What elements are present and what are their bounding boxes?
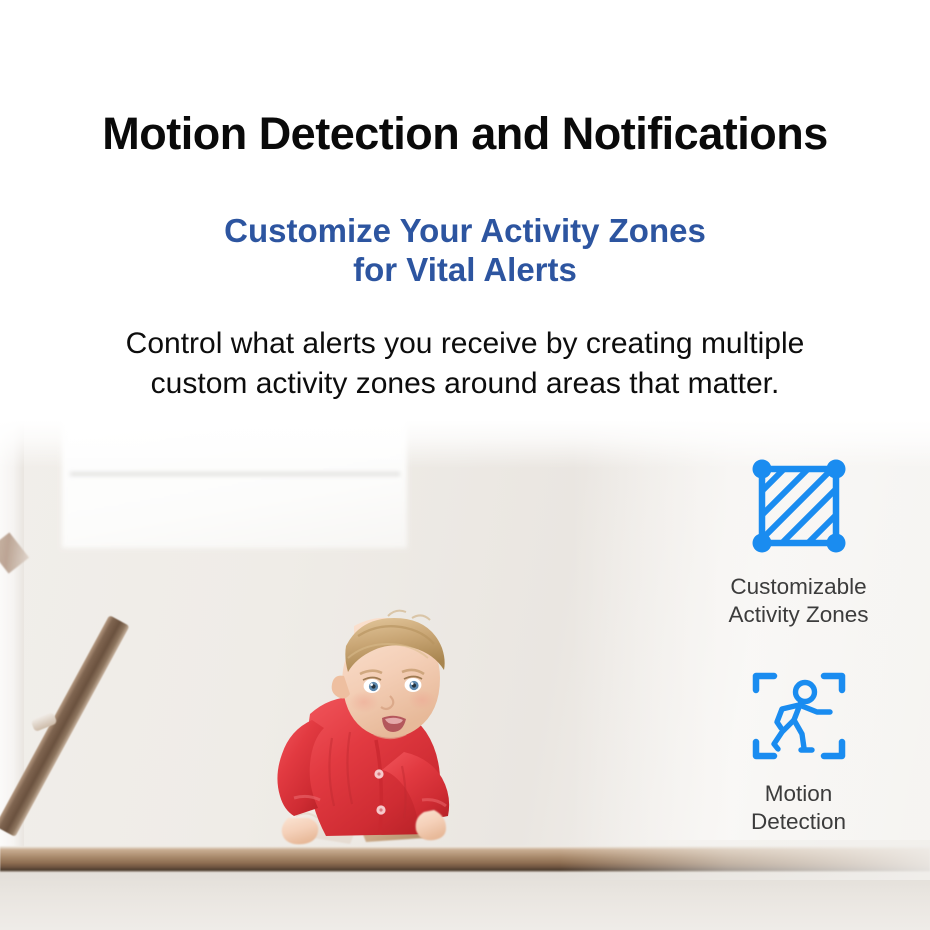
- subtitle-line-1: Customize Your Activity Zones: [0, 212, 930, 251]
- hero-text-block: Motion Detection and Notifications Custo…: [0, 0, 930, 403]
- feature-1-label-line-1: Customizable: [691, 573, 906, 601]
- feature-2-label-line-2: Detection: [691, 808, 906, 836]
- product-feature-page: Motion Detection and Notifications Custo…: [0, 0, 930, 930]
- motion-detection-icon: [744, 662, 854, 770]
- page-subtitle: Customize Your Activity Zones for Vital …: [0, 160, 930, 290]
- feature-label-activity-zones: Customizable Activity Zones: [691, 573, 906, 630]
- baby-figure: [236, 602, 451, 854]
- window-light-seam: [70, 472, 400, 476]
- feature-icon-column: Customizable Activity Zones: [691, 455, 906, 836]
- subtitle-line-2: for Vital Alerts: [0, 251, 930, 290]
- body-line-2: custom activity zones around areas that …: [40, 364, 890, 404]
- feature-customizable-activity-zones: Customizable Activity Zones: [691, 455, 906, 630]
- step-edge-fade: [560, 840, 930, 880]
- activity-zone-icon: [744, 455, 854, 563]
- feature-1-label-line-2: Activity Zones: [691, 601, 906, 629]
- body-copy: Control what alerts you receive by creat…: [40, 290, 890, 403]
- feature-label-motion-detection: Motion Detection: [691, 780, 906, 837]
- feature-2-label-line-1: Motion: [691, 780, 906, 808]
- body-line-1: Control what alerts you receive by creat…: [40, 324, 890, 364]
- feature-motion-detection: Motion Detection: [691, 662, 906, 837]
- page-title: Motion Detection and Notifications: [0, 0, 930, 160]
